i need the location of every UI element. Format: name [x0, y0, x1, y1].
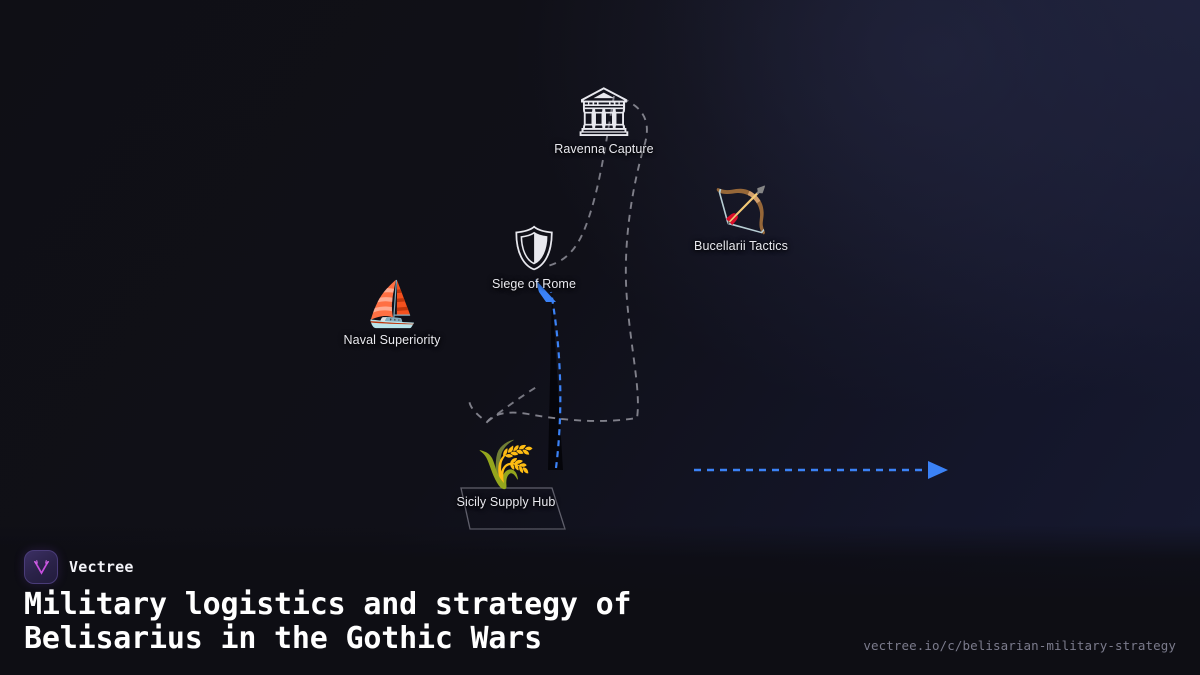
sheaf-of-rice-icon: 🌾 [476, 441, 536, 489]
shield-icon: 🛡 [506, 227, 562, 271]
graph-node-label: Naval Superiority [344, 333, 441, 347]
graph-node-label: Ravenna Capture [554, 142, 653, 156]
graph-node-ravenna-capture[interactable]: 🏛 Ravenna Capture [554, 88, 653, 156]
graph-node-siege-of-rome[interactable]: 🛡 Siege of Rome [492, 227, 576, 291]
sailboat-icon: ⛵ [365, 283, 420, 327]
graph-node-label: Siege of Rome [492, 277, 576, 291]
graph-node-label: Bucellarii Tactics [694, 239, 788, 253]
graph-node-bucellarii-tactics[interactable]: 🏹 Bucellarii Tactics [694, 189, 788, 253]
graph-node-label: Sicily Supply Hub [457, 495, 556, 509]
classical-building-icon: 🏛 [574, 88, 635, 136]
graph-node-naval-superiority[interactable]: ⛵ Naval Superiority [344, 283, 441, 347]
bow-and-arrow-icon: 🏹 [714, 189, 769, 233]
legend-blue-arrow [694, 461, 948, 479]
edge-dashed-tail [487, 386, 538, 422]
graph-node-sicily-supply-hub[interactable]: 🌾 Sicily Supply Hub [457, 441, 556, 509]
vectree-concept-graph-page: 🏛 Ravenna Capture 🏹 Bucellarii Tactics 🛡… [0, 0, 1200, 675]
